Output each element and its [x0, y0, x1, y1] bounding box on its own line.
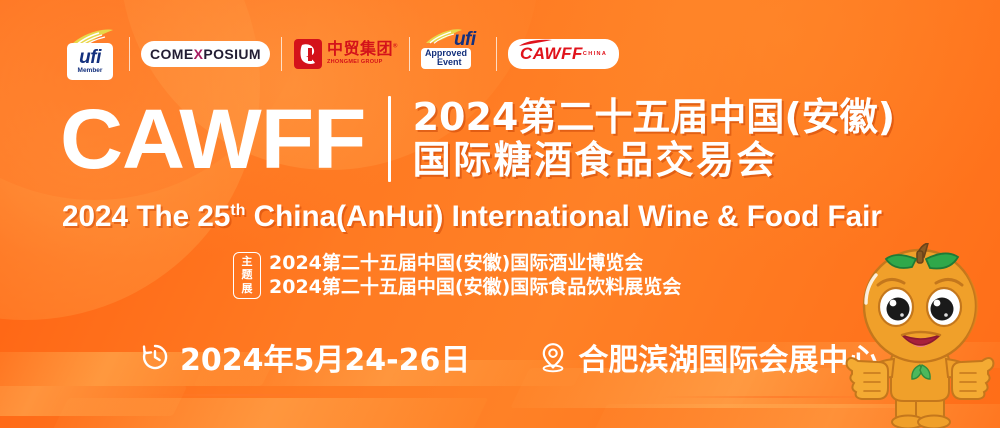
event-venue: 合肥滨湖国际会展中心 — [578, 335, 878, 379]
theme-badge-char-1: 主 — [242, 256, 253, 268]
theme-badge-char-2: 题 — [242, 269, 253, 281]
headline-divider — [388, 96, 391, 182]
event-venue-group: 合肥滨湖国际会展中心 — [538, 335, 878, 379]
comexposium-x-accent: X — [194, 46, 204, 62]
comexposium-logo: COMEXPOSIUM — [141, 41, 270, 67]
event-info: 2024年5月24-26日 合肥滨湖国际会展中心 — [140, 335, 878, 379]
english-title: 2024 The 25th China(AnHui) International… — [62, 200, 933, 234]
ufi-approved-plate: Approved Event — [421, 48, 471, 69]
ufi-member-logo: ufi Member — [60, 28, 118, 80]
logo-divider-3 — [409, 37, 410, 71]
event-date-group: 2024年5月24-26日 — [140, 335, 470, 379]
theme-exhibitions: 主 题 展 2024第二十五届中国(安徽)国际酒业博览会 2024第二十五届中国… — [233, 252, 681, 299]
ufi-approved-word: ufi — [454, 30, 476, 49]
logo-divider-4 — [496, 37, 497, 71]
background-hairline-1 — [140, 394, 351, 396]
english-title-suffix: China(AnHui) International Wine & Food F… — [245, 200, 882, 233]
promotional-banner: ufi Member COMEXPOSIUM 中贸集团® ZHONGMEI GR… — [0, 0, 1000, 428]
comexposium-text-before: COME — [150, 46, 194, 62]
cawff-swoosh-icon — [518, 39, 554, 48]
registered-mark: ® — [393, 44, 398, 50]
theme-exhibition-line-1: 2024第二十五届中国(安徽)国际酒业博览会 — [269, 252, 681, 274]
background-band-2 — [0, 386, 187, 416]
english-title-superscript: th — [230, 202, 245, 219]
comexposium-text-after: POSIUM — [203, 46, 261, 62]
zhongmei-emblem-icon — [293, 37, 323, 71]
zhongmei-group-logo: 中贸集团® ZHONGMEI GROUP — [293, 37, 398, 71]
ufi-approved-event-logo: ufi Approved Event — [421, 28, 485, 80]
theme-badge-char-3: 展 — [242, 283, 253, 295]
english-title-prefix: 2024 The 25 — [62, 200, 230, 233]
clock-icon — [140, 342, 170, 372]
background-band-3 — [52, 398, 489, 428]
cawff-logo: CAWFF CHINA — [508, 39, 619, 69]
mascot-left-hand — [847, 358, 888, 399]
ufi-member-subtitle: Member — [78, 68, 103, 75]
theme-exhibition-badge: 主 题 展 — [233, 252, 261, 299]
ufi-member-word: ufi — [79, 48, 101, 67]
ufi-approved-line2: Event — [425, 58, 467, 67]
event-date: 2024年5月24-26日 — [180, 335, 470, 379]
cawff-logo-subtitle: CHINA — [583, 51, 607, 57]
partner-logo-strip: ufi Member COMEXPOSIUM 中贸集团® ZHONGMEI GR… — [60, 27, 619, 81]
theme-exhibition-line-2: 2024第二十五届中国(安徽)国际食品饮料展览会 — [269, 276, 681, 298]
main-headline: CAWFF 2024第二十五届中国(安徽) 国际糖酒食品交易会 — [60, 96, 895, 182]
mascot-right-hand — [952, 358, 993, 399]
zhongmei-english-name: ZHONGMEI GROUP — [327, 60, 398, 66]
chinese-title-line1: 2024第二十五届中国(安徽) — [413, 96, 896, 139]
zhongmei-chinese-name: 中贸集团® — [327, 42, 398, 58]
chinese-title: 2024第二十五届中国(安徽) 国际糖酒食品交易会 — [413, 96, 896, 182]
chinese-title-line2: 国际糖酒食品交易会 — [413, 139, 896, 182]
orange-fruit-mascot — [836, 243, 1000, 428]
comexposium-wordmark: COMEXPOSIUM — [150, 46, 261, 62]
zhongmei-chinese-text: 中贸集团 — [327, 41, 393, 58]
location-pin-icon — [538, 341, 568, 373]
logo-divider-2 — [281, 37, 282, 71]
ufi-member-plate: ufi Member — [67, 43, 113, 80]
theme-exhibition-lines: 2024第二十五届中国(安徽)国际酒业博览会 2024第二十五届中国(安徽)国际… — [269, 252, 681, 299]
cawff-acronym: CAWFF — [60, 100, 365, 179]
zhongmei-wordmark: 中贸集团® ZHONGMEI GROUP — [327, 42, 398, 66]
logo-divider-1 — [129, 37, 130, 71]
